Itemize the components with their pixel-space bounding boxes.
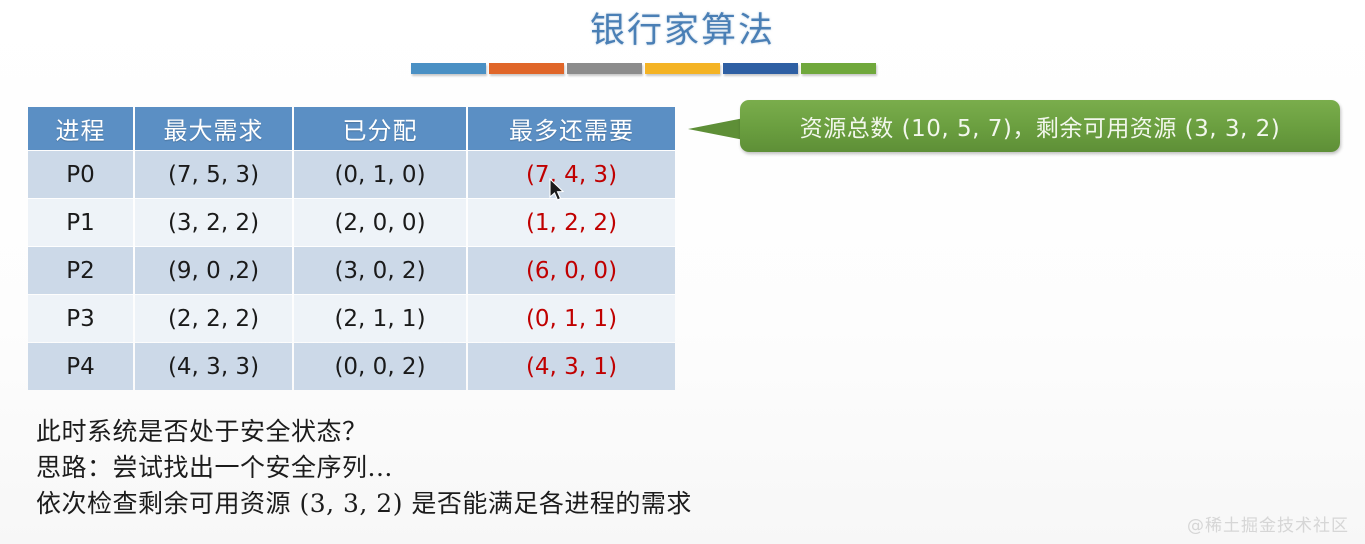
- page-title: 银行家算法: [0, 2, 1365, 53]
- column-header-process: 进程: [28, 107, 133, 150]
- explanation-line-3: 依次检查剩余可用资源 (3, 3, 2) 是否能满足各进程的需求: [36, 486, 692, 522]
- accent-bar-green: [801, 63, 876, 74]
- table-header-row: 进程 最大需求 已分配 最多还需要: [28, 107, 675, 150]
- cell-need: (7, 4, 3): [468, 151, 675, 198]
- cell-allocated: (0, 1, 0): [294, 151, 466, 198]
- table-row: P3 (2, 2, 2) (2, 1, 1) (0, 1, 1): [28, 295, 675, 342]
- accent-bar-darkblue: [723, 63, 798, 74]
- cell-allocated: (2, 1, 1): [294, 295, 466, 342]
- accent-bar-strip: [411, 63, 876, 74]
- accent-bar-gray: [567, 63, 642, 74]
- column-header-need: 最多还需要: [468, 107, 675, 150]
- cell-max: (7, 5, 3): [135, 151, 292, 198]
- cell-process: P3: [28, 295, 133, 342]
- cell-need: (6, 0, 0): [468, 247, 675, 294]
- column-header-allocated: 已分配: [294, 107, 466, 150]
- cell-max: (3, 2, 2): [135, 199, 292, 246]
- cell-allocated: (0, 0, 2): [294, 343, 466, 390]
- table-body: P0 (7, 5, 3) (0, 1, 0) (7, 4, 3) P1 (3, …: [28, 151, 675, 390]
- explanation-line-2: 思路：尝试找出一个安全序列...: [36, 450, 692, 486]
- table-row: P2 (9, 0 ,2) (3, 0, 2) (6, 0, 0): [28, 247, 675, 294]
- cell-max: (2, 2, 2): [135, 295, 292, 342]
- cell-allocated: (3, 0, 2): [294, 247, 466, 294]
- cell-process: P1: [28, 199, 133, 246]
- accent-bar-blue: [411, 63, 486, 74]
- accent-bar-gold: [645, 63, 720, 74]
- resource-allocation-table: 进程 最大需求 已分配 最多还需要 P0 (7, 5, 3) (0, 1, 0)…: [26, 106, 677, 391]
- cell-max: (4, 3, 3): [135, 343, 292, 390]
- cell-process: P4: [28, 343, 133, 390]
- explanation-text: 此时系统是否处于安全状态？ 思路：尝试找出一个安全序列... 依次检查剩余可用资…: [36, 414, 692, 522]
- column-header-max: 最大需求: [135, 107, 292, 150]
- cell-need: (0, 1, 1): [468, 295, 675, 342]
- cell-max: (9, 0 ,2): [135, 247, 292, 294]
- table-row: P1 (3, 2, 2) (2, 0, 0) (1, 2, 2): [28, 199, 675, 246]
- table-row: P4 (4, 3, 3) (0, 0, 2) (4, 3, 1): [28, 343, 675, 390]
- cell-need: (1, 2, 2): [468, 199, 675, 246]
- explanation-line-1: 此时系统是否处于安全状态？: [36, 414, 692, 450]
- cell-allocated: (2, 0, 0): [294, 199, 466, 246]
- cell-need: (4, 3, 1): [468, 343, 675, 390]
- accent-bar-orange: [489, 63, 564, 74]
- site-watermark: @稀土掘金技术社区: [1187, 511, 1349, 536]
- cell-process: P2: [28, 247, 133, 294]
- callout-text: 资源总数 (10, 5, 7)，剩余可用资源 (3, 3, 2): [800, 109, 1280, 143]
- cell-process: P0: [28, 151, 133, 198]
- resource-summary-callout: 资源总数 (10, 5, 7)，剩余可用资源 (3, 3, 2): [740, 100, 1340, 152]
- table-row: P0 (7, 5, 3) (0, 1, 0) (7, 4, 3): [28, 151, 675, 198]
- callout-tail-icon: [688, 116, 744, 142]
